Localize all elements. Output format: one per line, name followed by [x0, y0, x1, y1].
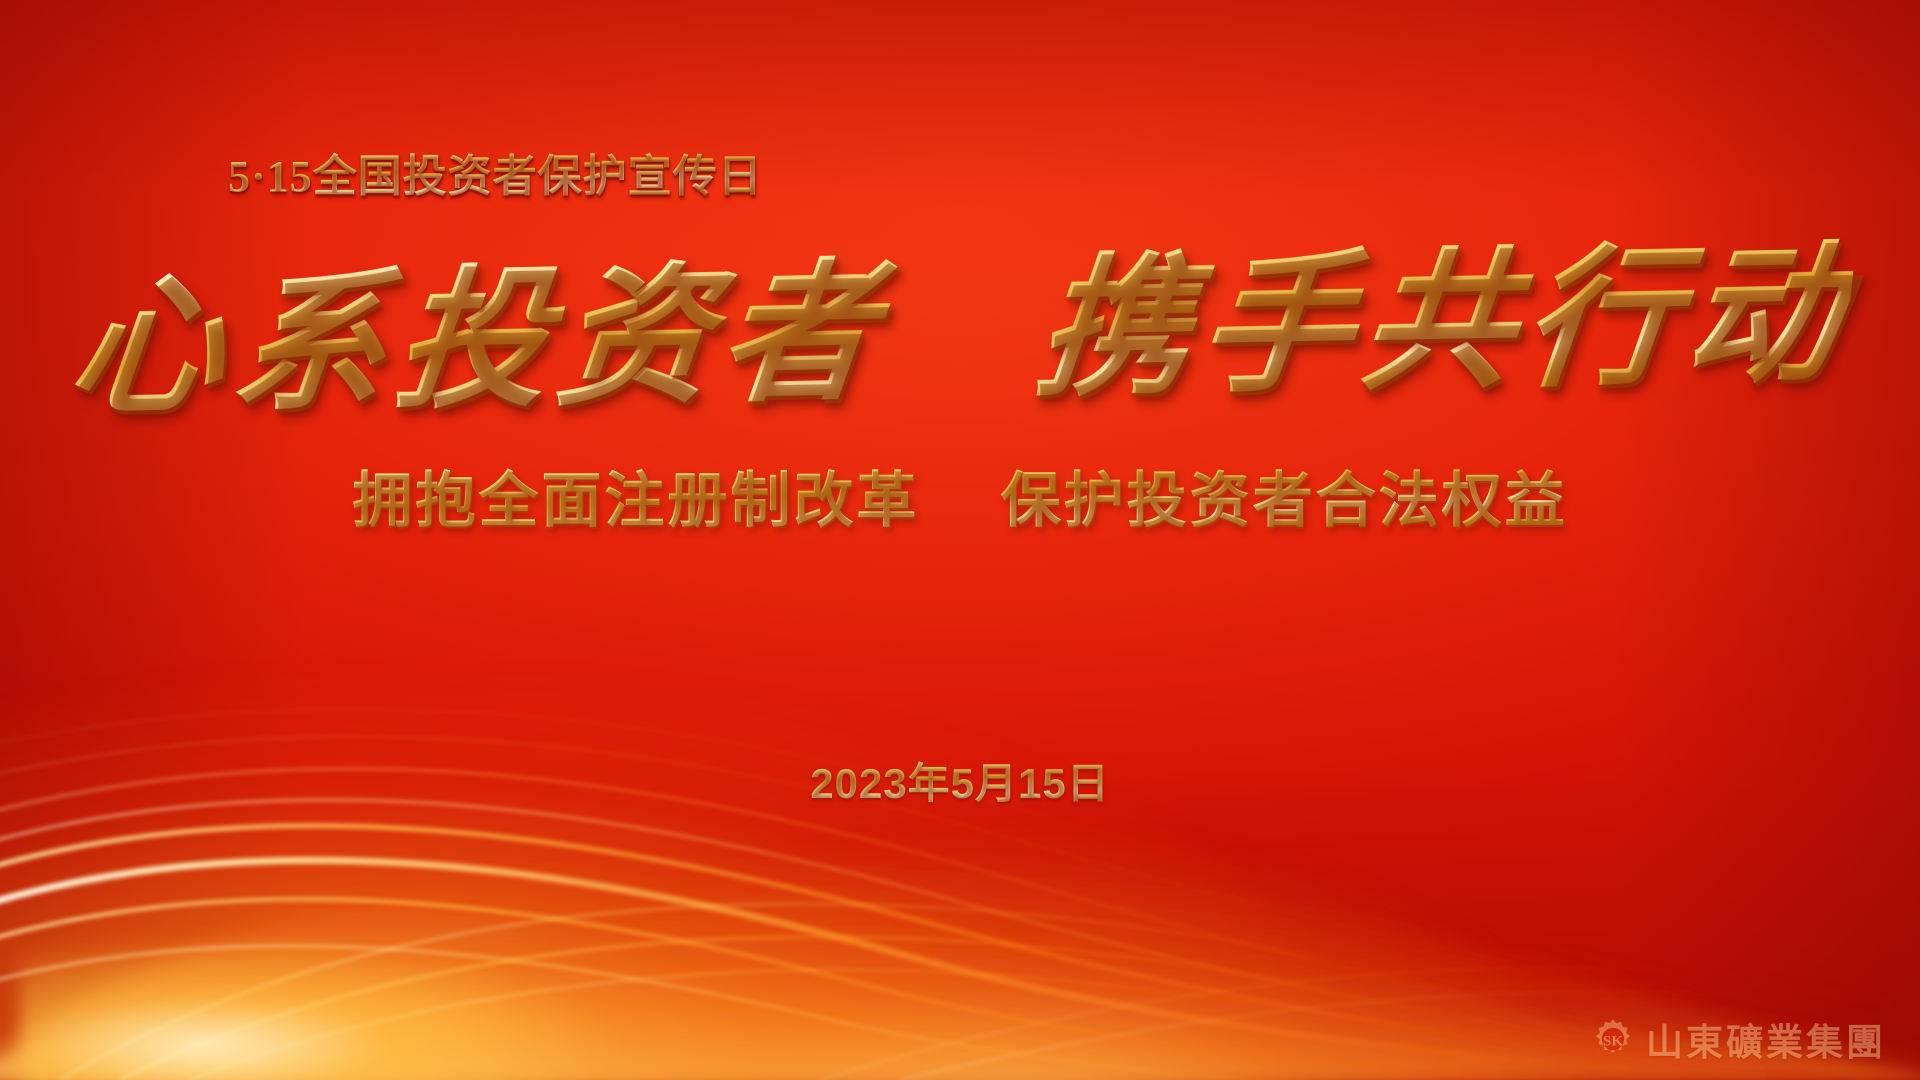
corporate-watermark: SK 山東礦業集團	[1590, 1012, 1886, 1066]
main-title-container: 心系投资者 携手共行动	[0, 250, 1920, 414]
banner-poster: 5·15全国投资者保护宣传日 心系投资者 携手共行动 拥抱全面注册制改革 保护投…	[0, 0, 1920, 1080]
main-title-spacer	[926, 382, 984, 383]
watermark-company-name: 山東礦業集團	[1646, 1012, 1886, 1066]
event-date: 2023年5月15日	[810, 750, 1110, 811]
watermark-mark-text: SK	[1603, 1034, 1623, 1050]
date-container: 2023年5月15日	[0, 750, 1920, 811]
subtitle: 拥抱全面注册制改革 保护投资者合法权益	[352, 452, 1567, 539]
subtitle-container: 拥抱全面注册制改革 保护投资者合法权益	[0, 452, 1920, 539]
gear-logo-icon: SK	[1590, 1016, 1636, 1062]
main-title-part-1: 心系投资者	[62, 249, 891, 433]
main-title-part-2: 携手共行动	[1028, 231, 1857, 415]
main-title: 心系投资者 携手共行动	[63, 233, 1858, 431]
subtitle-part-1: 拥抱全面注册制改革	[352, 467, 919, 534]
campaign-eyebrow-text: 5·15全国投资者保护宣传日	[228, 140, 763, 204]
subtitle-part-2: 保护投资者合法权益	[1001, 467, 1568, 534]
